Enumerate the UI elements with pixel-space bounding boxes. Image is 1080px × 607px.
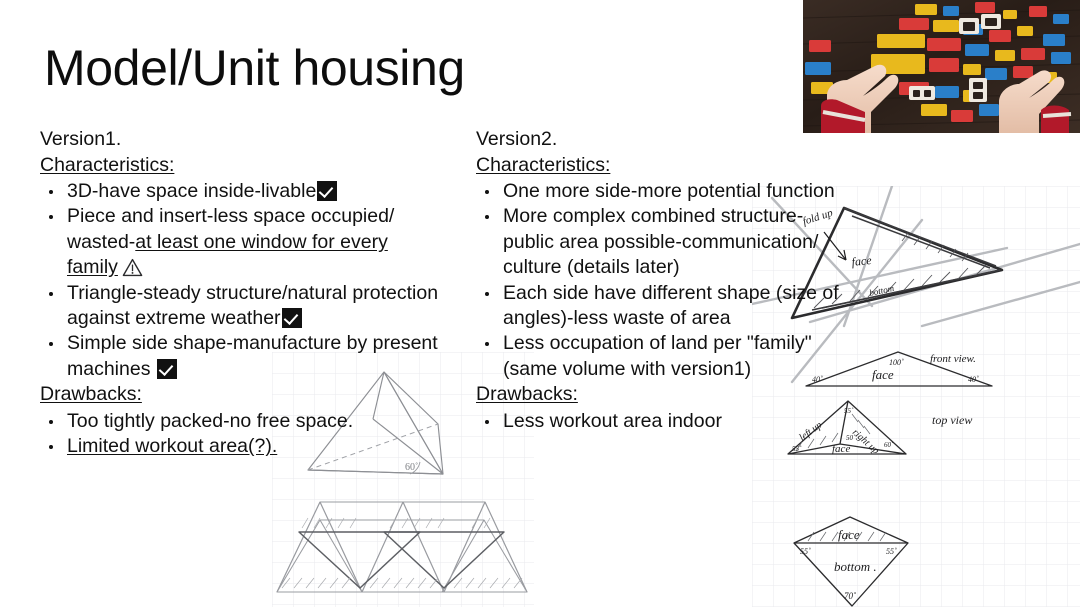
annotation-face-1: face <box>851 253 873 269</box>
angle-label-55-right: 55˚ <box>886 547 897 556</box>
list-item: Each side have different shape (size of … <box>476 281 848 332</box>
list-item: Piece and insert-less space occupied/ wa… <box>40 204 440 280</box>
check-mark-icon <box>157 359 177 379</box>
version1-characteristics-label-wrap: Characteristics: <box>40 153 440 180</box>
annotation-top-view: top view <box>932 413 972 427</box>
list-item: Less occupation of land per "family"(sam… <box>476 331 848 382</box>
annotation-face-4: face <box>838 527 860 542</box>
lego-bricks-photo <box>803 0 1080 133</box>
version2-characteristics-label-wrap: Characteristics: <box>476 153 848 180</box>
list-item: Less workout area indoor <box>476 409 848 434</box>
list-item: Too tightly packed-no free space. <box>40 409 440 434</box>
slide-canvas: 60˚ <box>0 0 1080 607</box>
annotation-face-2: face <box>872 367 894 382</box>
list-item: More complex combined structure-public a… <box>476 204 848 280</box>
bullet-text: 3D-have space inside-livable <box>67 180 316 202</box>
check-mark-icon <box>317 181 337 201</box>
version1-drawbacks-label-wrap: Drawbacks: <box>40 382 440 409</box>
angle-label-tv-3: 55˚ <box>792 445 802 453</box>
bullet-text: Simple side shape-manufacture by present… <box>67 332 438 379</box>
version2-characteristics-list: One more side-more potential function Mo… <box>476 179 848 382</box>
annotation-face-3: face <box>832 443 850 455</box>
version1-characteristics-label: Characteristics: <box>40 153 174 179</box>
version1-characteristics-list: 3D-have space inside-livable Piece and i… <box>40 179 440 382</box>
annotation-front-view: front view. <box>930 353 976 365</box>
list-item: Limited workout area(?). <box>40 434 440 459</box>
angle-label-tv-2: 50˚ <box>846 434 856 442</box>
version2-characteristics-label: Characteristics: <box>476 153 610 179</box>
angle-label-tv-4: 60˚ <box>884 441 894 449</box>
bullet-text: Too tightly packed-no free space. <box>67 410 353 432</box>
version1-drawbacks-label: Drawbacks: <box>40 382 142 408</box>
version2-drawbacks-label-wrap: Drawbacks: <box>476 382 848 409</box>
version1-drawbacks-list: Too tightly packed-no free space. Limite… <box>40 409 440 460</box>
version2-heading: Version2. <box>476 127 848 153</box>
version1-heading: Version1. <box>40 127 440 153</box>
list-item: One more side-more potential function <box>476 179 848 204</box>
angle-label-60: 60˚ <box>405 462 418 473</box>
bullet-text-underlined: Limited workout area(?). <box>67 435 277 457</box>
list-item: Triangle-steady structure/natural protec… <box>40 281 440 332</box>
version2-drawbacks-list: Less workout area indoor <box>476 409 848 434</box>
bullet-text: Triangle-steady structure/natural protec… <box>67 282 438 329</box>
angle-label-40-right: 40˚ <box>968 375 979 384</box>
version1-column: Version1. Characteristics: 3D-have space… <box>40 127 440 460</box>
angle-label-55-left: 55˚ <box>800 547 811 556</box>
list-item: Simple side shape-manufacture by present… <box>40 331 440 382</box>
warning-sign-icon <box>122 258 143 277</box>
version2-drawbacks-label: Drawbacks: <box>476 382 578 408</box>
check-mark-icon <box>282 308 302 328</box>
angle-label-70: 70˚ <box>844 591 856 601</box>
list-item: 3D-have space inside-livable <box>40 179 440 204</box>
version2-column: Version2. Characteristics: One more side… <box>476 127 848 434</box>
page-title: Model/Unit housing <box>44 42 465 95</box>
angle-label-100: 100˚ <box>889 358 904 367</box>
annotation-bottom-2: bottom . <box>834 559 877 574</box>
